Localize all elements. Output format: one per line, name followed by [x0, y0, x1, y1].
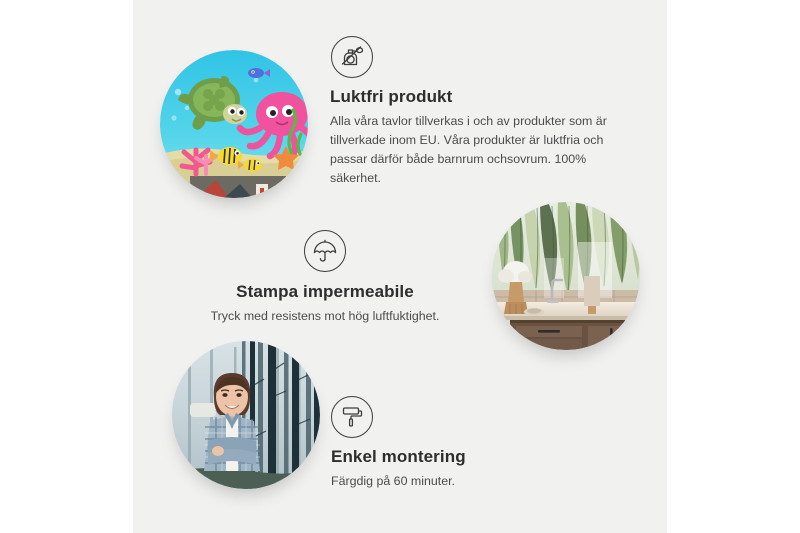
feature-easy-installation: Enkel montering Färgdig på 60 minuter. — [331, 396, 611, 491]
feature-title: Luktfri produkt — [330, 86, 630, 107]
photo-bathroom-vanity-botanical-wallpaper — [492, 202, 640, 350]
photo-woman-with-paint-roller-forest-mural — [172, 341, 320, 489]
feature-waterproof: Stampa impermeabile Tryck med resistens … — [185, 230, 465, 326]
no-odor-spray-bottle-icon — [331, 36, 373, 78]
photo-underwater-cartoon-mural — [160, 50, 308, 198]
feature-body: Färgdig på 60 minuter. — [331, 472, 611, 491]
product-feature-infographic: Luktfri produkt Alla våra tavlor tillver… — [0, 0, 800, 533]
feature-body: Tryck med resistens mot hög luftfuktighe… — [185, 307, 465, 326]
umbrella-icon — [304, 230, 346, 272]
feature-body: Alla våra tavlor tillverkas i och av pro… — [330, 112, 630, 187]
paint-roller-icon — [331, 396, 373, 438]
feature-title: Enkel montering — [331, 446, 611, 467]
feature-odorless: Luktfri produkt Alla våra tavlor tillver… — [330, 36, 630, 188]
feature-title: Stampa impermeabile — [185, 281, 465, 302]
